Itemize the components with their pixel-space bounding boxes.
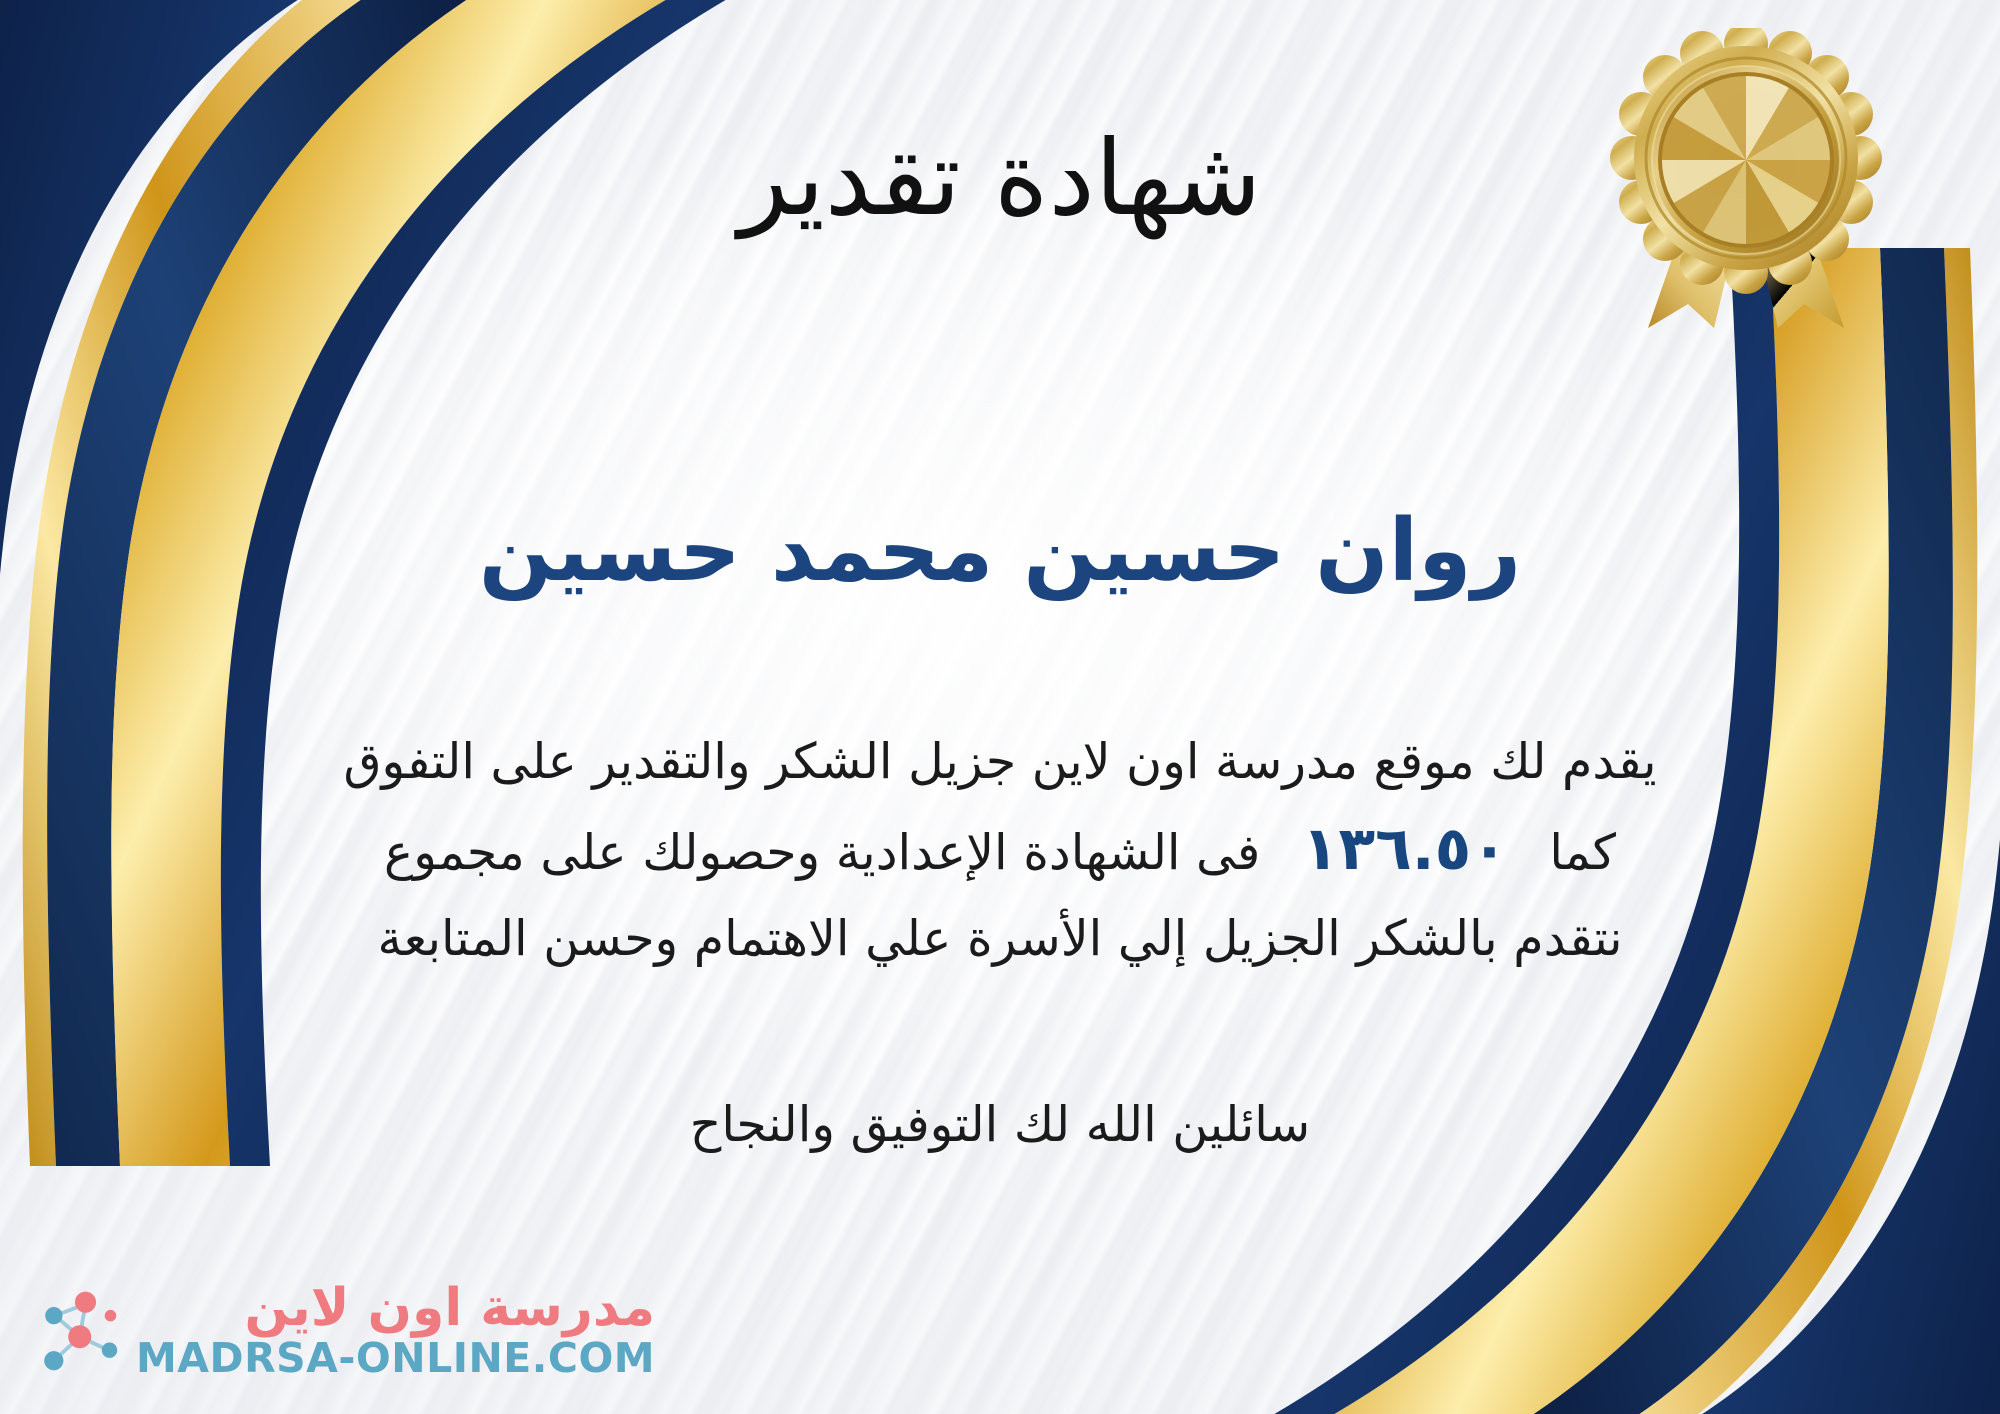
brand-arabic-name: مدرسة اون لاين bbox=[136, 1280, 655, 1336]
brand-url[interactable]: MADRSA-ONLINE.COM bbox=[136, 1336, 655, 1382]
certificate-body: يقدم لك موقع مدرسة اون لاين جزيل الشكر و… bbox=[150, 722, 1850, 978]
body-line-2: كما ١٣٦.٥٠ فى الشهادة الإعدادية وحصولك ع… bbox=[150, 801, 1850, 898]
body-line-3: نتقدم بالشكر الجزيل إلي الأسرة علي الاهت… bbox=[150, 899, 1850, 978]
closing-wish: سائلين الله لك التوفيق والنجاح bbox=[150, 1088, 1850, 1162]
body-line-1: يقدم لك موقع مدرسة اون لاين جزيل الشكر و… bbox=[150, 722, 1850, 801]
student-name: روان حسين محمد حسين bbox=[150, 500, 1850, 603]
network-nodes-icon bbox=[26, 1283, 122, 1379]
body-line-2-suffix: كما bbox=[1549, 824, 1616, 881]
brand-logo[interactable]: مدرسة اون لاين MADRSA-ONLINE.COM bbox=[26, 1280, 655, 1382]
page-title: شهادة تقدير bbox=[150, 120, 1850, 236]
certificate-content: شهادة تقدير روان حسين محمد حسين يقدم لك … bbox=[150, 0, 1850, 1414]
body-line-2-prefix: فى الشهادة الإعدادية وحصولك على مجموع bbox=[384, 824, 1260, 881]
grade-total-value: ١٣٦.٥٠ bbox=[1276, 814, 1534, 884]
brand-text: مدرسة اون لاين MADRSA-ONLINE.COM bbox=[136, 1280, 655, 1382]
certificate: شهادة تقدير روان حسين محمد حسين يقدم لك … bbox=[0, 0, 2000, 1414]
